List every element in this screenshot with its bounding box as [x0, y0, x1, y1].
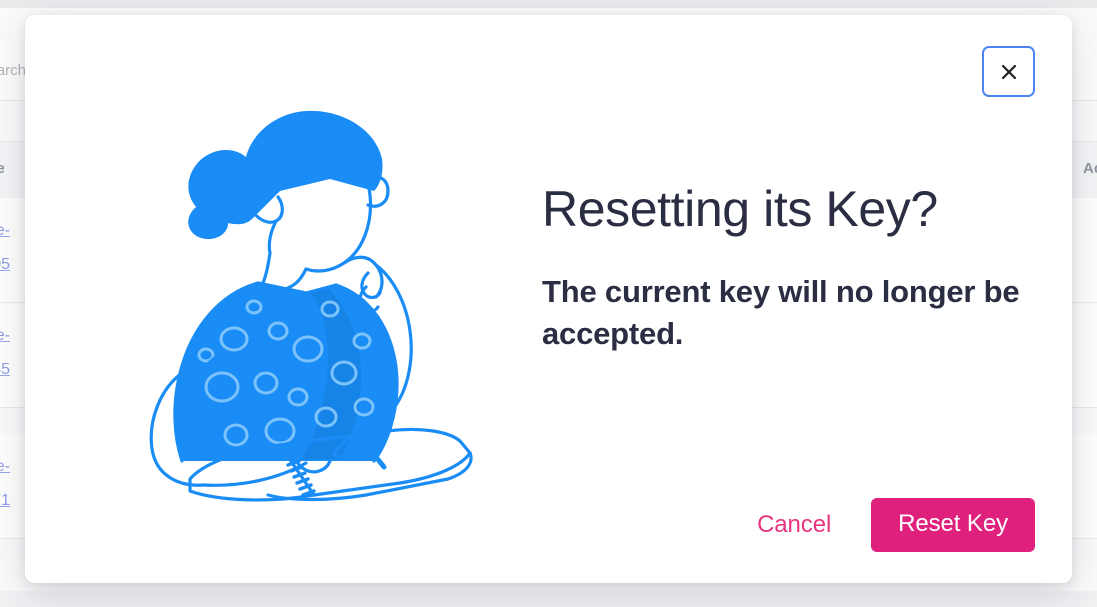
link-line-1: e- — [0, 319, 10, 353]
sideburn — [269, 221, 276, 253]
reset-key-button[interactable]: Reset Key — [871, 498, 1035, 552]
table-header-action: Action — [1083, 160, 1097, 177]
modal-actions: Cancel Reset Key — [757, 498, 1035, 552]
table-header-name: Name — [0, 160, 4, 177]
modal-text-column: Resetting its Key? The current key will … — [542, 183, 1047, 356]
page-title: Resetting its Key? — [542, 183, 1047, 237]
table-cell-link[interactable]: e- 45 — [0, 319, 10, 387]
table-cell-link[interactable]: e- 71 — [0, 450, 10, 518]
hair-shape — [188, 111, 382, 224]
link-line-2: 71 — [0, 484, 10, 518]
reset-key-modal: Resetting its Key? The current key will … — [25, 15, 1072, 583]
link-line-2: 45 — [0, 353, 10, 387]
pen-tip — [376, 457, 384, 467]
neck-left — [262, 253, 270, 285]
finger-1 — [362, 273, 380, 298]
cancel-button[interactable]: Cancel — [757, 511, 831, 539]
link-line-1: e- — [0, 450, 10, 484]
modal-description: The current key will no longer be accept… — [542, 271, 1042, 357]
thinking-person-illustration — [130, 87, 520, 507]
close-icon — [999, 62, 1019, 82]
link-line-1: e- — [0, 214, 10, 248]
forearm-left — [204, 463, 306, 485]
close-button[interactable] — [982, 46, 1035, 97]
table-cell-link[interactable]: e- 05 — [0, 214, 10, 282]
search-input[interactable]: Search — [0, 56, 26, 86]
link-line-2: 05 — [0, 248, 10, 282]
